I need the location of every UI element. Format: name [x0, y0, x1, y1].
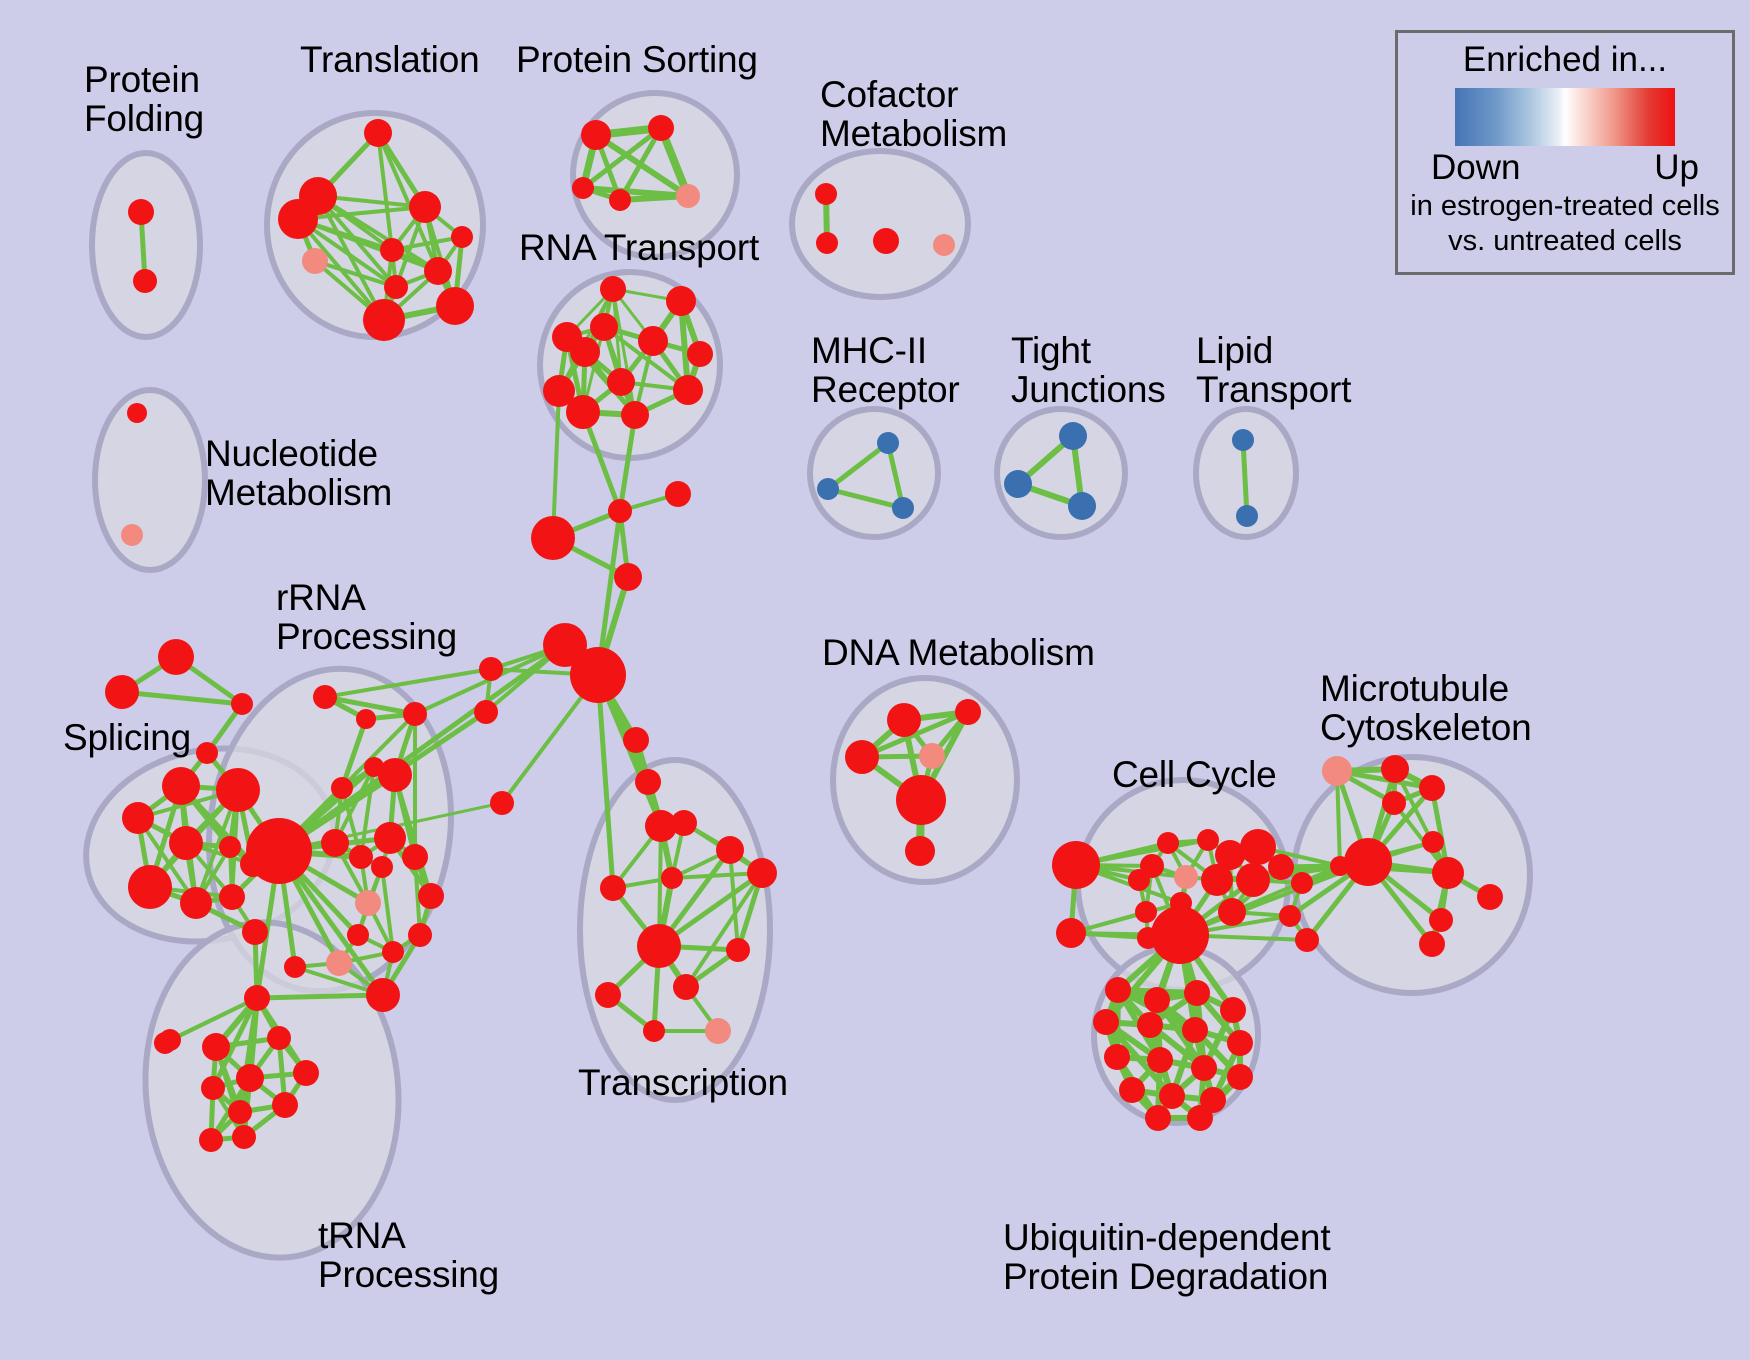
gene-set-node[interactable] — [355, 890, 381, 916]
gene-set-node[interactable] — [877, 432, 899, 454]
gene-set-node[interactable] — [403, 702, 427, 726]
gene-set-node[interactable] — [479, 657, 503, 681]
legend-caption-line1: in estrogen-treated cells — [1410, 190, 1720, 223]
cluster-hull-nucleotide — [95, 390, 205, 570]
cluster-label-rrna: rRNA Processing — [276, 578, 457, 656]
gene-set-node[interactable] — [242, 919, 268, 945]
gene-set-node[interactable] — [159, 1029, 181, 1051]
gene-set-node[interactable] — [196, 742, 218, 764]
gene-set-node[interactable] — [1236, 863, 1270, 897]
gene-set-node[interactable] — [905, 836, 935, 866]
gene-set-node[interactable] — [638, 326, 668, 356]
gene-set-node[interactable] — [1068, 492, 1096, 520]
gene-set-node[interactable] — [284, 956, 306, 978]
gene-set-node[interactable] — [873, 228, 899, 254]
gene-set-node[interactable] — [1419, 931, 1445, 957]
gene-set-node[interactable] — [637, 924, 681, 968]
gene-set-node[interactable] — [267, 1026, 291, 1050]
gene-set-node[interactable] — [1201, 864, 1233, 896]
gene-set-node[interactable] — [380, 238, 404, 262]
gene-set-node[interactable] — [1279, 905, 1301, 927]
cluster-label-dna-metabolism: DNA Metabolism — [822, 633, 1095, 672]
legend-low-label: Down — [1431, 148, 1520, 188]
gene-set-node[interactable] — [815, 183, 837, 205]
gene-set-node[interactable] — [1227, 1030, 1253, 1056]
gene-set-node[interactable] — [643, 1020, 665, 1042]
gene-set-node[interactable] — [451, 226, 473, 248]
gene-set-node[interactable] — [621, 401, 649, 429]
gene-set-node[interactable] — [1291, 872, 1313, 894]
gene-set-node[interactable] — [1187, 1105, 1213, 1131]
gene-set-node[interactable] — [816, 232, 838, 254]
gene-set-node[interactable] — [666, 286, 696, 316]
gene-set-node[interactable] — [219, 884, 245, 910]
gene-set-node[interactable] — [1220, 997, 1246, 1023]
gene-set-node[interactable] — [219, 836, 241, 858]
gene-set-node[interactable] — [1295, 928, 1319, 952]
gene-set-node[interactable] — [614, 563, 642, 591]
gene-set-node[interactable] — [570, 647, 626, 703]
gene-set-node[interactable] — [1059, 422, 1087, 450]
gene-set-node[interactable] — [648, 115, 674, 141]
gene-set-node[interactable] — [716, 836, 744, 864]
gene-set-node[interactable] — [366, 978, 400, 1012]
cluster-label-mhc2: MHC-II Receptor — [811, 331, 960, 409]
gene-set-node[interactable] — [1157, 832, 1179, 854]
gene-set-node[interactable] — [1432, 857, 1464, 889]
legend-title: Enriched in... — [1463, 40, 1667, 80]
gene-set-node[interactable] — [364, 119, 392, 147]
legend-high-label: Up — [1654, 148, 1699, 188]
gene-set-node[interactable] — [635, 769, 661, 795]
gene-set-node[interactable] — [374, 822, 406, 854]
gene-set-node[interactable] — [1137, 1012, 1163, 1038]
gene-set-node[interactable] — [1232, 429, 1254, 451]
gene-set-node[interactable] — [896, 775, 946, 825]
gene-set-node[interactable] — [158, 639, 194, 675]
gene-set-node[interactable] — [216, 768, 260, 812]
gene-set-node[interactable] — [623, 727, 649, 753]
legend-caption-line2: vs. untreated cells — [1448, 225, 1682, 258]
gene-set-node[interactable] — [1119, 1077, 1145, 1103]
gene-set-node[interactable] — [162, 767, 200, 805]
gene-set-node[interactable] — [302, 248, 328, 274]
cluster-label-lipid-transport: Lipid Transport — [1196, 331, 1351, 409]
gene-set-node[interactable] — [1056, 918, 1086, 948]
gene-set-node[interactable] — [1182, 1017, 1208, 1043]
gene-set-node[interactable] — [817, 478, 839, 500]
gene-set-node[interactable] — [236, 1064, 264, 1092]
cluster-hull-protein-folding — [92, 153, 200, 337]
gene-set-node[interactable] — [180, 887, 212, 919]
gene-set-node[interactable] — [1184, 980, 1210, 1006]
gene-set-node[interactable] — [919, 743, 945, 769]
gene-set-node[interactable] — [608, 499, 632, 523]
gene-set-node[interactable] — [363, 299, 405, 341]
gene-set-node[interactable] — [572, 177, 594, 199]
gene-set-node[interactable] — [1322, 756, 1352, 786]
gene-set-node[interactable] — [1144, 987, 1170, 1013]
gene-set-node[interactable] — [418, 883, 444, 909]
gene-set-node[interactable] — [600, 276, 626, 302]
gene-set-node[interactable] — [122, 802, 154, 834]
gene-set-node[interactable] — [128, 865, 172, 909]
gene-set-node[interactable] — [845, 740, 879, 774]
gene-set-node[interactable] — [231, 693, 253, 715]
cluster-hull-cofactor — [792, 151, 968, 297]
gene-set-node[interactable] — [349, 845, 373, 869]
gene-set-node[interactable] — [378, 758, 412, 792]
cluster-label-trna: tRNA Processing — [318, 1216, 499, 1294]
gene-set-node[interactable] — [356, 709, 376, 729]
legend-box: Enriched in... Down Up in estrogen-treat… — [1395, 30, 1735, 275]
gene-set-node[interactable] — [570, 337, 600, 367]
gene-set-node[interactable] — [687, 341, 713, 367]
gene-set-node[interactable] — [1477, 884, 1503, 910]
gene-set-node[interactable] — [1330, 856, 1350, 876]
enrichment-map-figure: Protein FoldingTranslationProtein Sortin… — [0, 0, 1750, 1360]
gene-set-node[interactable] — [892, 497, 914, 519]
gene-set-node[interactable] — [1145, 1105, 1171, 1131]
gene-set-node[interactable] — [490, 791, 514, 815]
gene-set-node[interactable] — [1151, 906, 1209, 964]
gene-set-node[interactable] — [566, 395, 600, 429]
gene-set-node[interactable] — [1147, 1047, 1173, 1073]
cluster-label-rna-transport: RNA Transport — [519, 228, 759, 267]
gene-set-node[interactable] — [1105, 977, 1131, 1003]
gene-set-node[interactable] — [246, 818, 312, 884]
gene-set-node[interactable] — [384, 275, 408, 299]
gene-set-node[interactable] — [232, 1125, 256, 1149]
gene-set-node[interactable] — [1191, 1055, 1217, 1081]
gene-set-node[interactable] — [673, 974, 699, 1000]
cluster-label-translation: Translation — [300, 40, 479, 79]
gene-set-node[interactable] — [278, 199, 318, 239]
cluster-label-transcription: Transcription — [578, 1063, 788, 1102]
gene-set-node[interactable] — [1197, 829, 1219, 851]
gene-set-node[interactable] — [1419, 775, 1445, 801]
gene-set-node[interactable] — [436, 287, 474, 325]
gene-set-node[interactable] — [1093, 1009, 1119, 1035]
cluster-label-tight-junctions: Tight Junctions — [1011, 331, 1166, 409]
gene-set-node[interactable] — [1422, 831, 1444, 853]
gene-set-node[interactable] — [673, 375, 703, 405]
gene-set-node[interactable] — [531, 516, 575, 560]
cluster-label-protein-folding: Protein Folding — [84, 60, 204, 138]
gene-set-node[interactable] — [955, 699, 981, 725]
cluster-hull-mhc2 — [810, 409, 938, 537]
gene-set-node[interactable] — [887, 703, 921, 737]
gene-set-node[interactable] — [595, 982, 621, 1008]
gene-set-node[interactable] — [661, 867, 683, 889]
gene-set-node[interactable] — [169, 826, 203, 860]
edge — [257, 995, 383, 998]
gene-set-node[interactable] — [402, 844, 428, 870]
gene-set-node[interactable] — [933, 234, 955, 256]
gene-set-node[interactable] — [331, 777, 353, 799]
gene-set-node[interactable] — [313, 685, 337, 709]
gene-set-node[interactable] — [1159, 1083, 1185, 1109]
cluster-label-splicing: Splicing — [63, 718, 191, 757]
gene-set-node[interactable] — [1381, 755, 1409, 783]
gene-set-node[interactable] — [1429, 908, 1453, 932]
gene-set-node[interactable] — [326, 950, 352, 976]
gene-set-node[interactable] — [474, 700, 498, 724]
gene-set-node[interactable] — [671, 810, 697, 836]
gene-set-node[interactable] — [128, 199, 154, 225]
gene-set-node[interactable] — [244, 985, 270, 1011]
gene-set-node[interactable] — [408, 923, 432, 947]
gene-set-node[interactable] — [609, 189, 631, 211]
gene-set-node[interactable] — [201, 1076, 225, 1100]
gene-set-node[interactable] — [590, 313, 618, 341]
gene-set-node[interactable] — [665, 481, 691, 507]
cluster-label-cofactor: Cofactor Metabolism — [820, 75, 1007, 153]
gene-set-node[interactable] — [133, 269, 157, 293]
gene-set-node[interactable] — [1382, 791, 1406, 815]
gene-set-node[interactable] — [347, 924, 369, 946]
gene-set-node[interactable] — [726, 938, 750, 962]
gene-set-node[interactable] — [321, 829, 349, 857]
gene-set-node[interactable] — [272, 1092, 298, 1118]
gene-set-node[interactable] — [228, 1100, 252, 1124]
gene-set-node[interactable] — [581, 120, 611, 150]
gene-set-node[interactable] — [1135, 901, 1157, 923]
gene-set-node[interactable] — [371, 856, 393, 878]
cluster-label-protein-sorting: Protein Sorting — [516, 40, 758, 79]
gene-set-node[interactable] — [600, 875, 626, 901]
gene-set-node[interactable] — [1104, 1044, 1130, 1070]
gene-set-node[interactable] — [409, 191, 441, 223]
cluster-label-nucleotide: Nucleotide Metabolism — [205, 434, 392, 512]
gene-set-node[interactable] — [424, 257, 452, 285]
gene-set-node[interactable] — [1268, 854, 1294, 880]
gene-set-node[interactable] — [1218, 898, 1246, 926]
gene-set-node[interactable] — [127, 403, 147, 423]
gene-set-node[interactable] — [705, 1018, 731, 1044]
gene-set-node[interactable] — [1227, 1064, 1253, 1090]
legend-color-gradient — [1455, 88, 1675, 146]
gene-set-node[interactable] — [121, 524, 143, 546]
gene-set-node[interactable] — [293, 1060, 319, 1086]
cluster-label-cell-cycle: Cell Cycle — [1112, 755, 1277, 794]
gene-set-node[interactable] — [676, 184, 700, 208]
gene-set-node[interactable] — [105, 675, 139, 709]
gene-set-node[interactable] — [1128, 869, 1150, 891]
gene-set-node[interactable] — [1052, 841, 1100, 889]
cluster-label-ubiquitin: Ubiquitin-dependent Protein Degradation — [1003, 1218, 1330, 1296]
cluster-label-microtubule: Microtubule Cytoskeleton — [1320, 669, 1532, 747]
gene-set-node[interactable] — [1236, 505, 1258, 527]
gene-set-node[interactable] — [747, 858, 777, 888]
gene-set-node[interactable] — [607, 368, 635, 396]
gene-set-node[interactable] — [1174, 865, 1198, 889]
gene-set-node[interactable] — [199, 1128, 223, 1152]
gene-set-node[interactable] — [382, 941, 404, 963]
gene-set-node[interactable] — [202, 1033, 230, 1061]
gene-set-node[interactable] — [1344, 838, 1392, 886]
gene-set-node[interactable] — [1004, 470, 1032, 498]
